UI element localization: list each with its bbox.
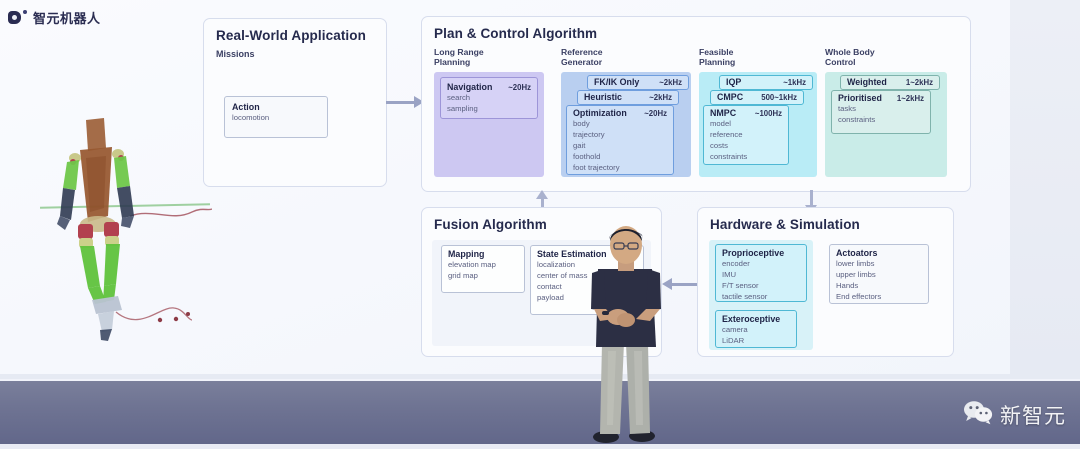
card-mapping-title: Mapping [448,249,484,259]
card-cmpc-hz: 500~1kHz [761,93,797,102]
panel-real-world-application: Real-World Application Missions Action l… [203,18,387,187]
stage-floor [0,381,1080,444]
column-long-range-planning: Long Range Planning [434,47,484,68]
label-missions: Missions [216,49,255,60]
card-cmpc-title: CMPC [717,92,743,102]
card-nmpc: NMPC ~100Hz model reference costs constr… [703,105,789,165]
card-actuators-lines: lower limbs upper limbs Hands End effect… [836,259,922,303]
column-reference-generator: Reference Generator [561,47,603,68]
card-prioritised-title: Prioritised [838,93,882,103]
card-navigation-hz: ~20Hz [508,83,531,92]
wechat-icon [963,400,993,430]
arrow-realworld-to-plan [386,95,424,109]
card-prioritised-hz: 1~2kHz [897,94,924,103]
card-cmpc: CMPC 500~1kHz [710,90,804,105]
card-navigation: Navigation ~20Hz search sampling [440,77,538,119]
card-action-lines: locomotion [232,113,320,124]
card-navigation-lines: search sampling [447,93,531,115]
card-prioritised: Prioritised 1~2kHz tasks constraints [831,90,931,134]
card-weighted-title: Weighted [847,77,887,87]
card-optimization-title: Optimization [573,108,627,118]
card-iqp-title: IQP [726,77,741,87]
watermark-text: 新智元 [1000,400,1066,430]
card-optimization-hz: ~20Hz [644,109,667,118]
card-exteroceptive-lines: camera LiDAR [722,325,790,347]
brand-logo: 智元机器人 [8,8,101,27]
robot-kinematics-figure [42,96,212,346]
agibot-logo-icon [8,10,27,25]
card-fkik-hz: ~2kHz [659,78,682,87]
card-weighted: Weighted 1~2kHz [840,75,940,90]
card-optimization-lines: body trajectory gait foothold foot traje… [573,119,667,174]
card-iqp: IQP ~1kHz [719,75,813,90]
panel-hardware-simulation: Hardware & Simulation Proprioceptive enc… [697,207,954,357]
stage-floor-edge [0,379,1080,381]
card-iqp-hz: ~1kHz [783,78,806,87]
panel-title-real-world: Real-World Application [216,28,366,43]
col-title-reference-generator: Reference Generator [561,47,603,68]
col-title-whole-body-control: Whole Body Control [825,47,875,68]
card-heuristic-title: Heuristic [584,92,622,102]
card-nmpc-lines: model reference costs constraints [710,119,782,163]
col-title-long-range: Long Range Planning [434,47,484,68]
column-whole-body-control: Whole Body Control [825,47,875,68]
panel-plan-control-algorithm: Plan & Control Algorithm Long Range Plan… [421,16,971,192]
card-weighted-hz: 1~2kHz [906,78,933,87]
card-action-title: Action [232,102,260,112]
card-nmpc-title: NMPC [710,108,736,118]
brand-logo-text: 智元机器人 [33,8,101,27]
presenter-figure [578,225,674,444]
col-title-feasible-planning: Feasible Planning [699,47,735,68]
card-optimization: Optimization ~20Hz body trajectory gait … [566,105,674,175]
card-heuristic: Heuristic ~2kHz [577,90,679,105]
column-feasible-planning: Feasible Planning [699,47,735,68]
card-fkik-only: FK/IK Only ~2kHz [587,75,689,90]
card-fkik-title: FK/IK Only [594,77,639,87]
card-proprioceptive-lines: encoder IMU F/T sensor tactile sensor [722,259,800,303]
panel-title-fusion: Fusion Algorithm [434,217,547,232]
card-action: Action locomotion [224,96,328,138]
card-actuators-title: Actoators [836,248,877,258]
card-proprioceptive-title: Proprioceptive [722,248,784,258]
card-prioritised-lines: tasks constraints [838,104,924,126]
panel-title-hardware: Hardware & Simulation [710,217,860,232]
card-proprioceptive: Proprioceptive encoder IMU F/T sensor ta… [715,244,807,302]
card-exteroceptive: Exteroceptive camera LiDAR [715,310,797,348]
wechat-watermark: 新智元 [963,400,1066,430]
card-exteroceptive-title: Exteroceptive [722,314,780,324]
card-navigation-title: Navigation [447,82,492,92]
card-actuators: Actoators lower limbs upper limbs Hands … [829,244,929,304]
card-mapping: Mapping elevation map grid map [441,245,525,293]
card-nmpc-hz: ~100Hz [755,109,782,118]
panel-title-plan-control: Plan & Control Algorithm [434,26,597,41]
card-heuristic-hz: ~2kHz [649,93,672,102]
card-mapping-lines: elevation map grid map [448,260,518,282]
